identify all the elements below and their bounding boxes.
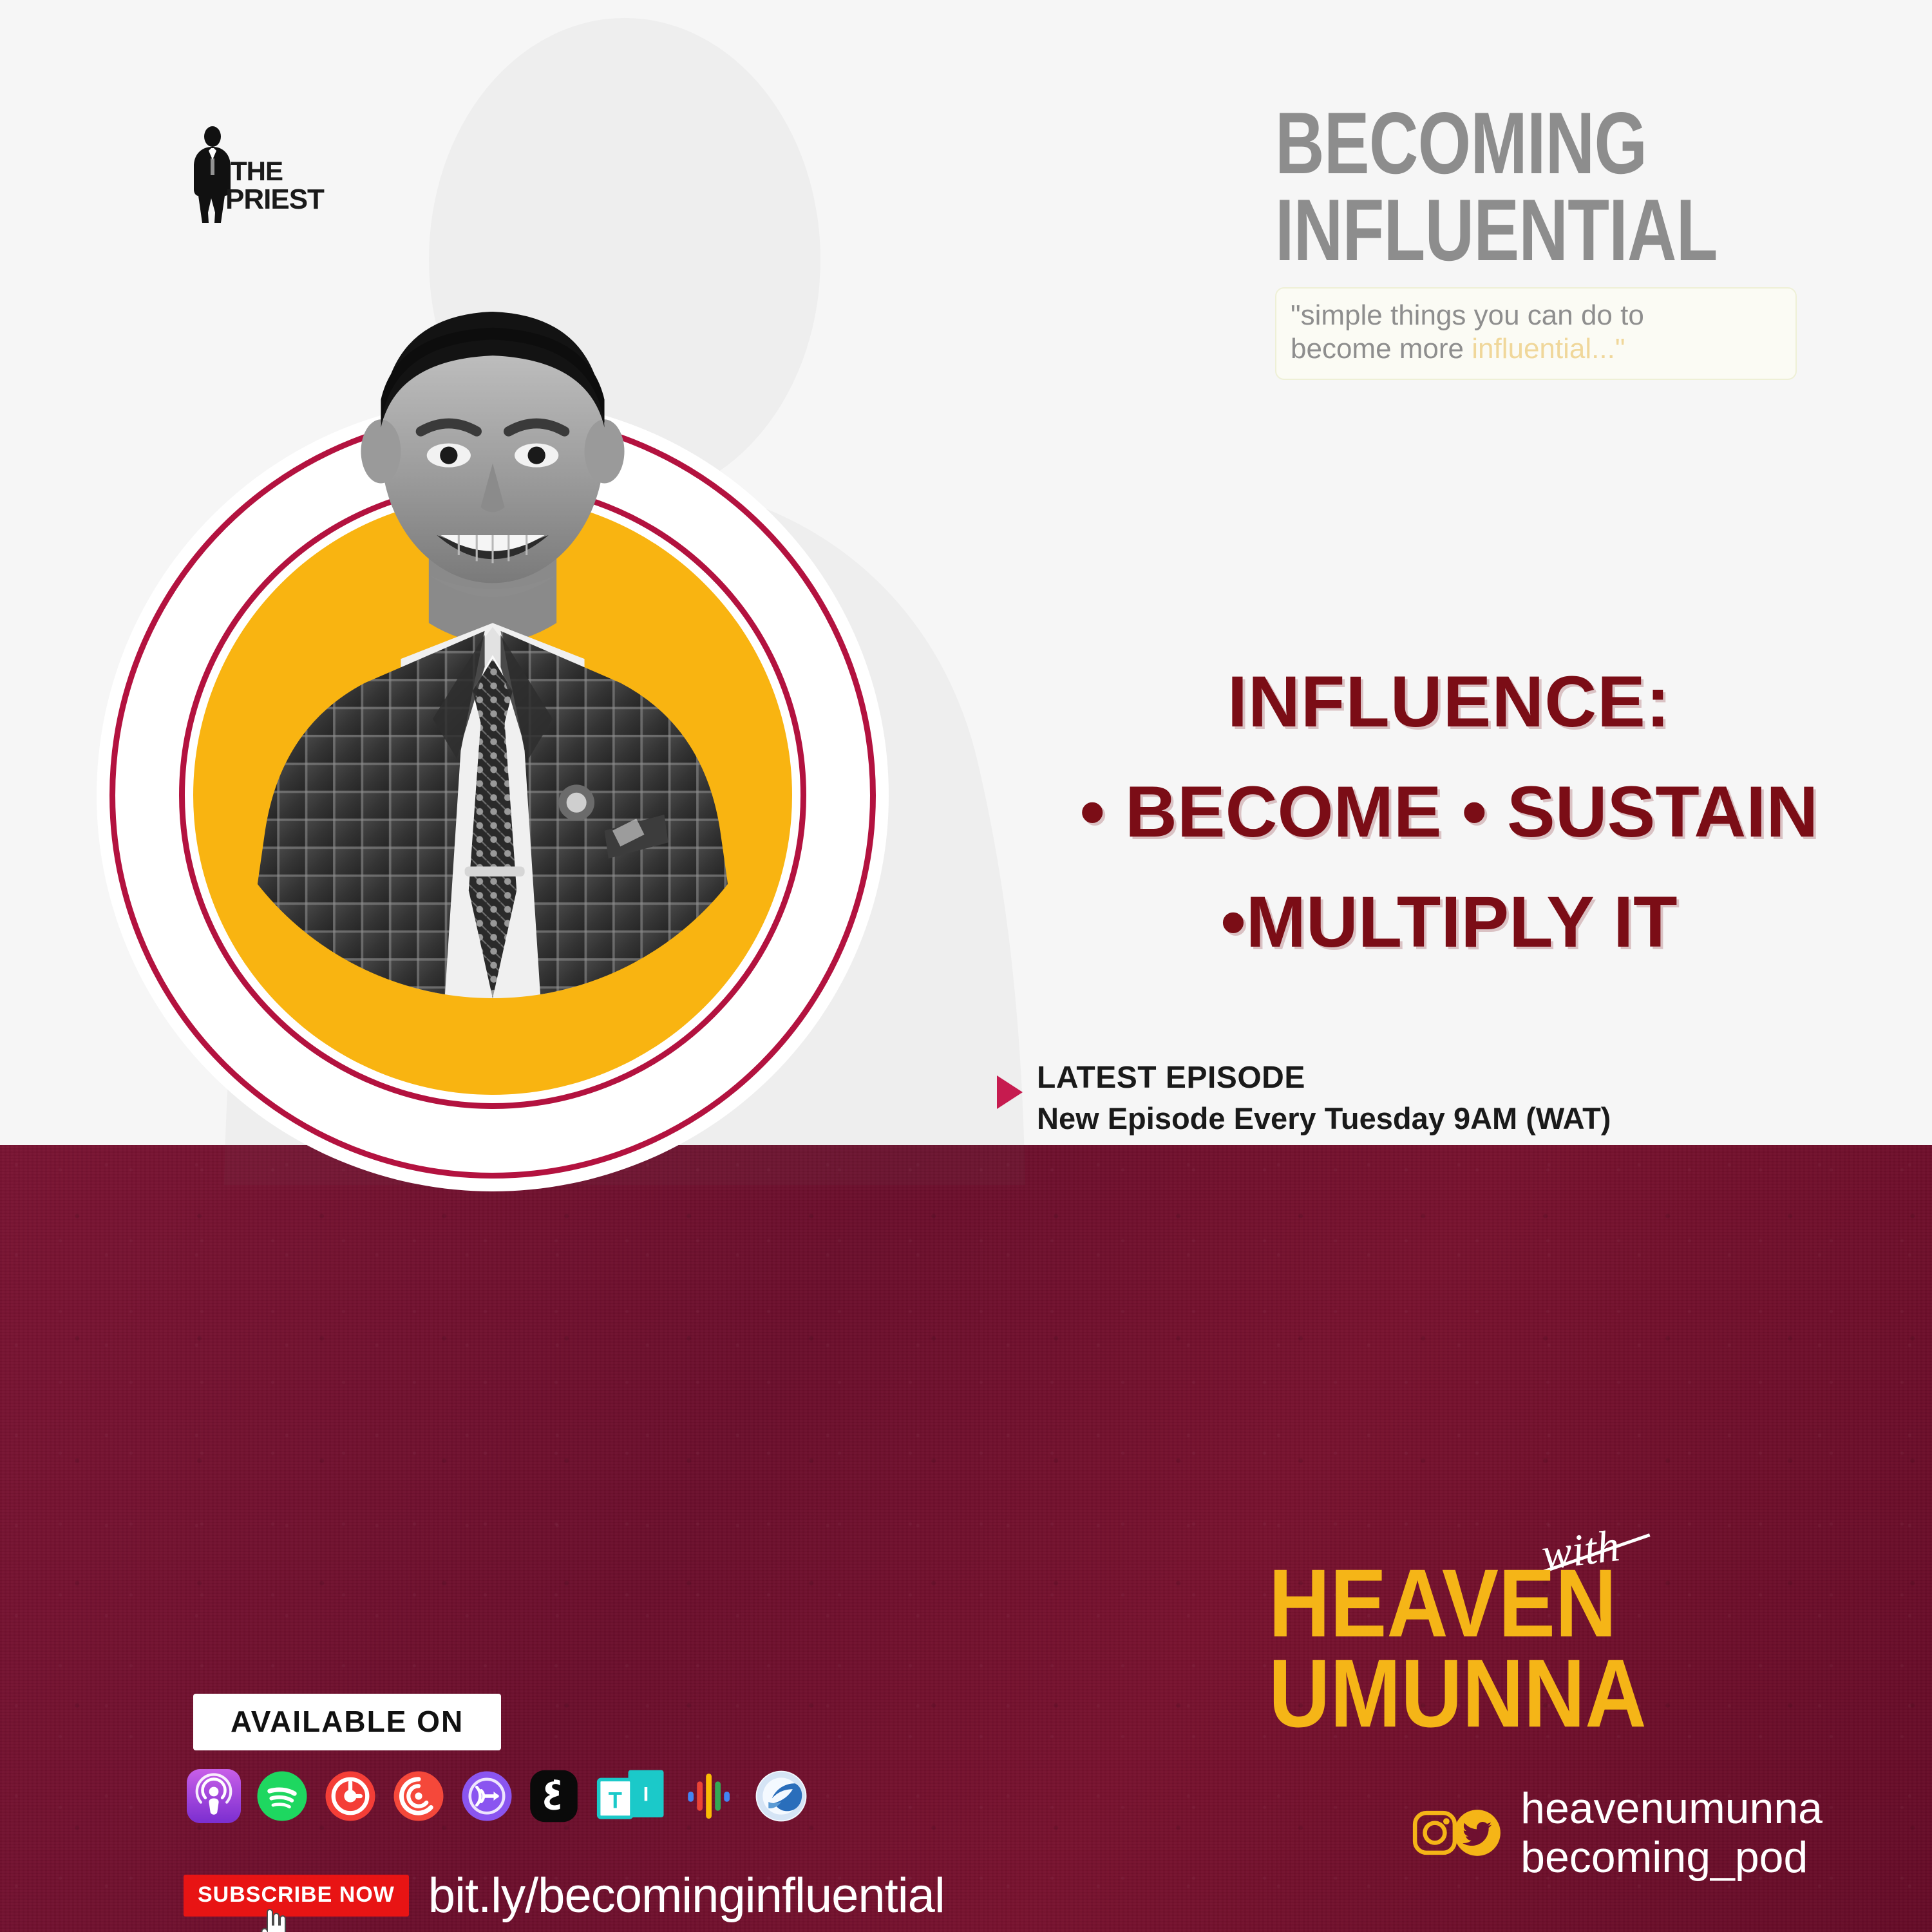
spotify-icon[interactable] (255, 1769, 309, 1823)
subscribe-now-label: SUBSCRIBE NOW (198, 1882, 395, 1907)
google-podcasts-icon[interactable] (684, 1769, 739, 1823)
podbean-icon[interactable] (753, 1768, 809, 1824)
available-on-badge: AVAILABLE ON (193, 1694, 501, 1750)
social-handles: heavenumunna becoming_pod (1410, 1784, 1823, 1882)
subscribe-row: SUBSCRIBE NOW bit.ly/becominginfluential (184, 1868, 945, 1924)
hand-cursor-icon (256, 1908, 289, 1932)
headline-line-2: • BECOME • SUSTAIN (1005, 773, 1893, 851)
svg-text:THE: THE (231, 156, 283, 186)
svg-text:PRIEST: PRIEST (225, 184, 325, 215)
brand-header: BECOMING INFLUENTIAL "simple things you … (1275, 103, 1868, 380)
the-priest-logo[interactable]: THE PRIEST (187, 122, 354, 225)
instagram-handle[interactable]: heavenumunna (1520, 1784, 1823, 1833)
svg-text:I: I (643, 1783, 649, 1805)
headline-line-1: INFLUENCE: (1005, 663, 1893, 741)
tagline-highlight: influential..." (1472, 333, 1625, 365)
host-name-line2: UMUNNA (1269, 1649, 1739, 1739)
tunein-icon[interactable]: T I (594, 1768, 670, 1824)
available-on-label: AVAILABLE ON (231, 1705, 464, 1738)
brand-title-line1: BECOMING (1275, 103, 1738, 184)
svg-text:T: T (609, 1788, 622, 1813)
host-portrait-photo (193, 232, 792, 998)
brand-title-line2: INFLUENTIAL (1275, 190, 1738, 270)
episode-schedule: New Episode Every Tuesday 9AM (WAT) (1037, 1101, 1611, 1136)
castbox-icon[interactable] (392, 1769, 446, 1823)
twitter-handle[interactable]: becoming_pod (1520, 1833, 1823, 1882)
anchor-icon[interactable] (528, 1769, 580, 1823)
pocket-casts-icon[interactable] (323, 1769, 377, 1823)
apple-podcasts-icon[interactable] (187, 1769, 241, 1823)
main-headline: INFLUENCE: • BECOME • SUSTAIN •MULTIPLY … (1005, 663, 1893, 961)
tagline-line1: "simple things you can do to (1291, 299, 1644, 331)
platform-icon-row: T I (187, 1768, 809, 1824)
latest-episode-label: LATEST EPISODE (1037, 1061, 1611, 1095)
subscribe-now-button[interactable]: SUBSCRIBE NOW (184, 1875, 409, 1917)
podcast-promo-poster: THE PRIEST BECOMING INFLUENTIAL "simple … (0, 0, 1932, 1932)
handle-text-block: heavenumunna becoming_pod (1520, 1784, 1823, 1882)
social-icon-group (1410, 1806, 1504, 1859)
overcast-icon[interactable] (460, 1769, 514, 1823)
latest-episode-block: LATEST EPISODE New Episode Every Tuesday… (997, 1061, 1611, 1136)
subscribe-link[interactable]: bit.ly/becominginfluential (428, 1868, 945, 1924)
host-portrait-frame (97, 399, 889, 1191)
tagline-line2: become more (1291, 333, 1472, 365)
play-triangle-icon (997, 1075, 1023, 1109)
host-logo: with HEAVEN UMUNNA (1269, 1558, 1803, 1738)
twitter-icon[interactable] (1451, 1806, 1504, 1859)
brand-tagline: "simple things you can do to become more… (1275, 287, 1797, 380)
host-name-line1: HEAVEN (1269, 1558, 1739, 1649)
headline-line-3: •MULTIPLY IT (1005, 884, 1893, 961)
